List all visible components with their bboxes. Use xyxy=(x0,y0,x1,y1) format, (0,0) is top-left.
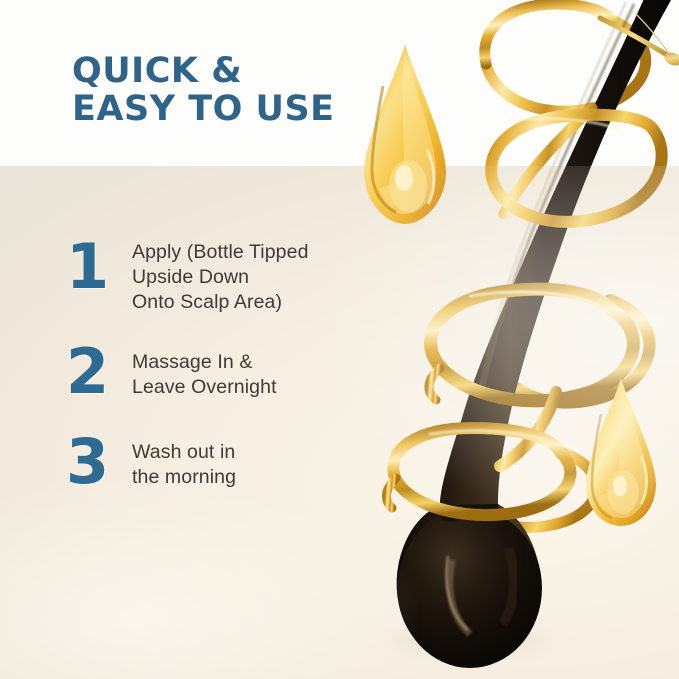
step-text-3: Wash out in the morning xyxy=(132,431,380,490)
list-item: 1 Apply (Bottle Tipped Upside Down Onto … xyxy=(60,236,380,315)
step-text-1: Apply (Bottle Tipped Upside Down Onto Sc… xyxy=(132,236,380,315)
step-number-1: 1 xyxy=(60,236,132,298)
list-item: 2 Massage In & Leave Overnight xyxy=(60,341,380,403)
step-text-2: Massage In & Leave Overnight xyxy=(132,341,380,400)
step-number-3: 3 xyxy=(60,431,132,493)
list-item: 3 Wash out in the morning xyxy=(60,431,380,493)
steps-list: 1 Apply (Bottle Tipped Upside Down Onto … xyxy=(60,236,380,493)
page-title: QUICK & EASY TO USE xyxy=(72,52,335,128)
step-number-2: 2 xyxy=(60,341,132,403)
promo-graphic: QUICK & EASY TO USE 1 Apply (Bottle Tipp… xyxy=(0,0,679,679)
